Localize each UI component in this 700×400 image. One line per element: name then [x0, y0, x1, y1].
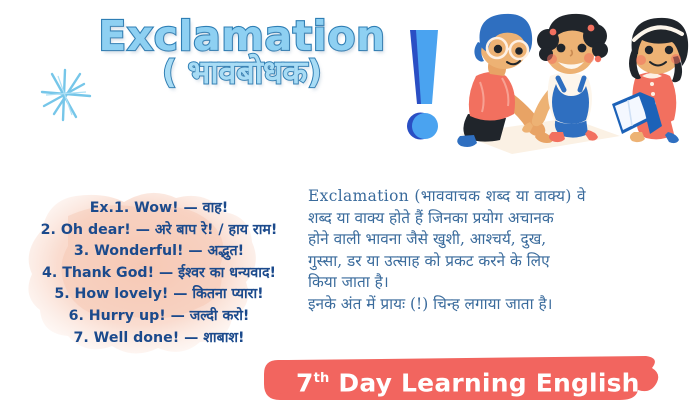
banner-text: 7th Day Learning English — [296, 365, 640, 397]
banner-ordinal: th — [314, 371, 330, 386]
banner-number: 7 — [296, 368, 314, 397]
three-children-reading-illustration — [452, 6, 700, 164]
example-line: Ex.1. Wow! — वाह! — [10, 198, 308, 220]
footer-banner: 7th Day Learning English — [264, 356, 684, 400]
definition-line: गुस्सा, डर या उत्साह को प्रकट करने के लि… — [308, 251, 694, 273]
starburst-icon — [32, 62, 98, 128]
example-line: 3. Wonderful! — अद्भुत! — [10, 241, 308, 263]
definition-line: शब्द या वाक्य होते हैं जिनका प्रयोग अचान… — [308, 208, 694, 230]
title-subtitle-hindi: ( भावबोधक) — [92, 56, 392, 90]
banner-title: Day Learning English — [329, 368, 639, 397]
example-line: 6. Hurry up! — जल्दी करो! — [10, 306, 308, 328]
definition-line: होने वाली भावना जैसे खुशी, आश्चर्य, दुख, — [308, 229, 694, 251]
child-right — [612, 18, 688, 143]
page-title: Exclamation ( भावबोधक) — [92, 16, 392, 89]
example-line: 7. Well done! — शाबाश! — [10, 328, 308, 350]
definition-paragraph: Exclamation (भाववाचक शब्द या वाक्य) वे श… — [308, 186, 694, 315]
definition-line: किया जाता है। — [308, 272, 694, 294]
examples-list: Ex.1. Wow! — वाह! 2. Oh dear! — अरे बाप … — [10, 198, 308, 349]
definition-line: इनके अंत में प्रायः (!) चिन्ह लगाया जाता… — [308, 294, 694, 316]
title-main-text: Exclamation — [92, 16, 392, 58]
example-line: 2. Oh dear! — अरे बाप रे! / हाय राम! — [10, 220, 308, 242]
example-line: 4. Thank God! — ईश्वर का धन्यवाद! — [10, 263, 308, 285]
infographic-canvas: Exclamation ( भावबोधक) — [0, 0, 700, 400]
definition-line: Exclamation (भाववाचक शब्द या वाक्य) वे — [308, 186, 694, 208]
child-middle — [522, 14, 608, 142]
child-left — [457, 14, 552, 147]
example-line: 5. How lovely! — कितना प्यारा! — [10, 284, 308, 306]
